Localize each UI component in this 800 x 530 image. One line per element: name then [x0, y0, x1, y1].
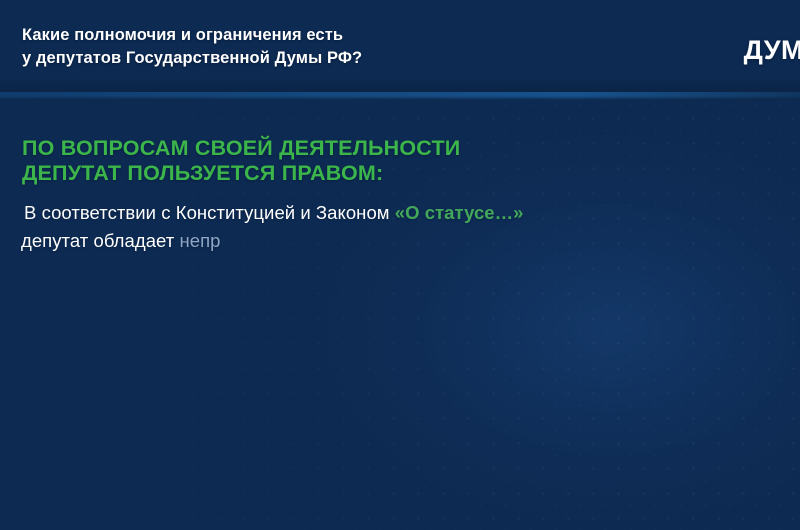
paragraph-typing-tail: непр: [179, 230, 220, 251]
paragraph-line-1: В соответствии с Конституцией и Законом …: [21, 199, 781, 227]
header-title-line-1: Какие полномочия и ограничения есть: [22, 24, 562, 47]
content-area: ПО ВОПРОСАМ СВОЕЙ ДЕЯТЕЛЬНОСТИ ДЕПУТАТ П…: [0, 100, 800, 530]
law-title-quote: «О статусе…»: [395, 202, 524, 223]
slide-root: Какие полномочия и ограничения есть у де…: [0, 0, 800, 530]
body-paragraph: В соответствии с Конституцией и Законом …: [21, 199, 781, 255]
section-heading-line-2: ДЕПУТАТ ПОЛЬЗУЕТСЯ ПРАВОМ:: [22, 161, 762, 186]
paragraph-line-2: депутат обладает непр: [21, 227, 781, 255]
header-title-line-2: у депутатов Государственной Думы РФ?: [22, 47, 562, 70]
brand-watermark: ДУМ: [744, 36, 800, 64]
paragraph-line-1-prefix: В соответствии с Конституцией и Законом: [24, 202, 395, 223]
header-band: Какие полномочия и ограничения есть у де…: [0, 0, 800, 92]
section-heading: ПО ВОПРОСАМ СВОЕЙ ДЕЯТЕЛЬНОСТИ ДЕПУТАТ П…: [22, 136, 762, 186]
paragraph-line-2-prefix: депутат обладает: [21, 230, 179, 251]
header-accent-stripe: [0, 92, 800, 100]
header-title: Какие полномочия и ограничения есть у де…: [22, 24, 562, 70]
section-heading-line-1: ПО ВОПРОСАМ СВОЕЙ ДЕЯТЕЛЬНОСТИ: [22, 136, 762, 161]
